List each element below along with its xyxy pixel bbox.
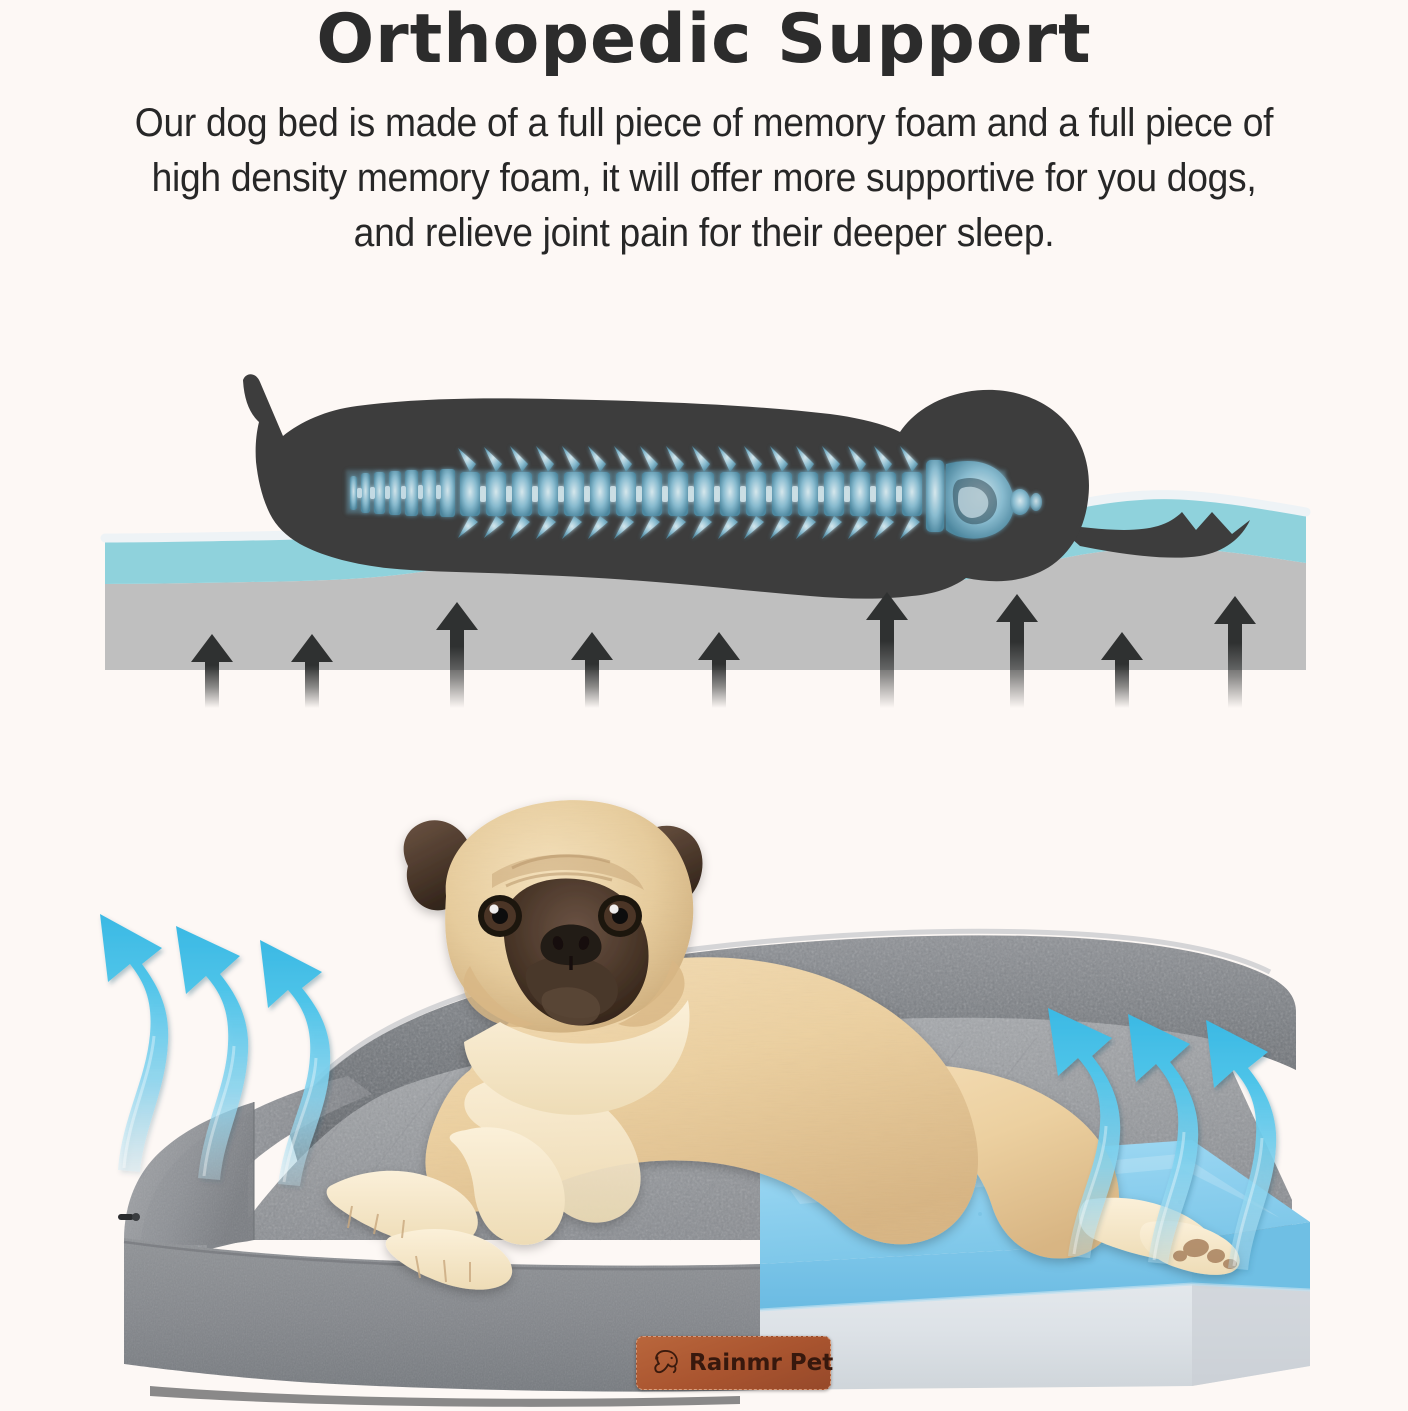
pug-right-eye: [598, 895, 642, 937]
description-line-3: and relieve joint pain for their deeper …: [60, 206, 1347, 261]
dog-bed-product-photo: [0, 770, 1408, 1411]
page-title: Orthopedic Support: [0, 2, 1408, 74]
brand-name: Rainmr Pet: [689, 1350, 833, 1376]
description-line-2: high density memory foam, it will offer …: [60, 151, 1347, 206]
description-line-1: Our dog bed is made of a full piece of m…: [60, 96, 1347, 151]
page-description: Our dog bed is made of a full piece of m…: [49, 96, 1358, 262]
header: Orthopedic Support Our dog bed is made o…: [0, 0, 1408, 262]
dog-head-logo: [649, 1346, 683, 1380]
pug-left-eye: [478, 895, 522, 937]
zipper-pull: [118, 1213, 140, 1221]
brand-label-patch: Rainmr Pet: [636, 1336, 831, 1390]
orthopedic-support-diagram: [0, 352, 1408, 712]
airflow-arrows-left: [100, 914, 330, 1186]
airflow-arrow: [100, 914, 168, 1172]
